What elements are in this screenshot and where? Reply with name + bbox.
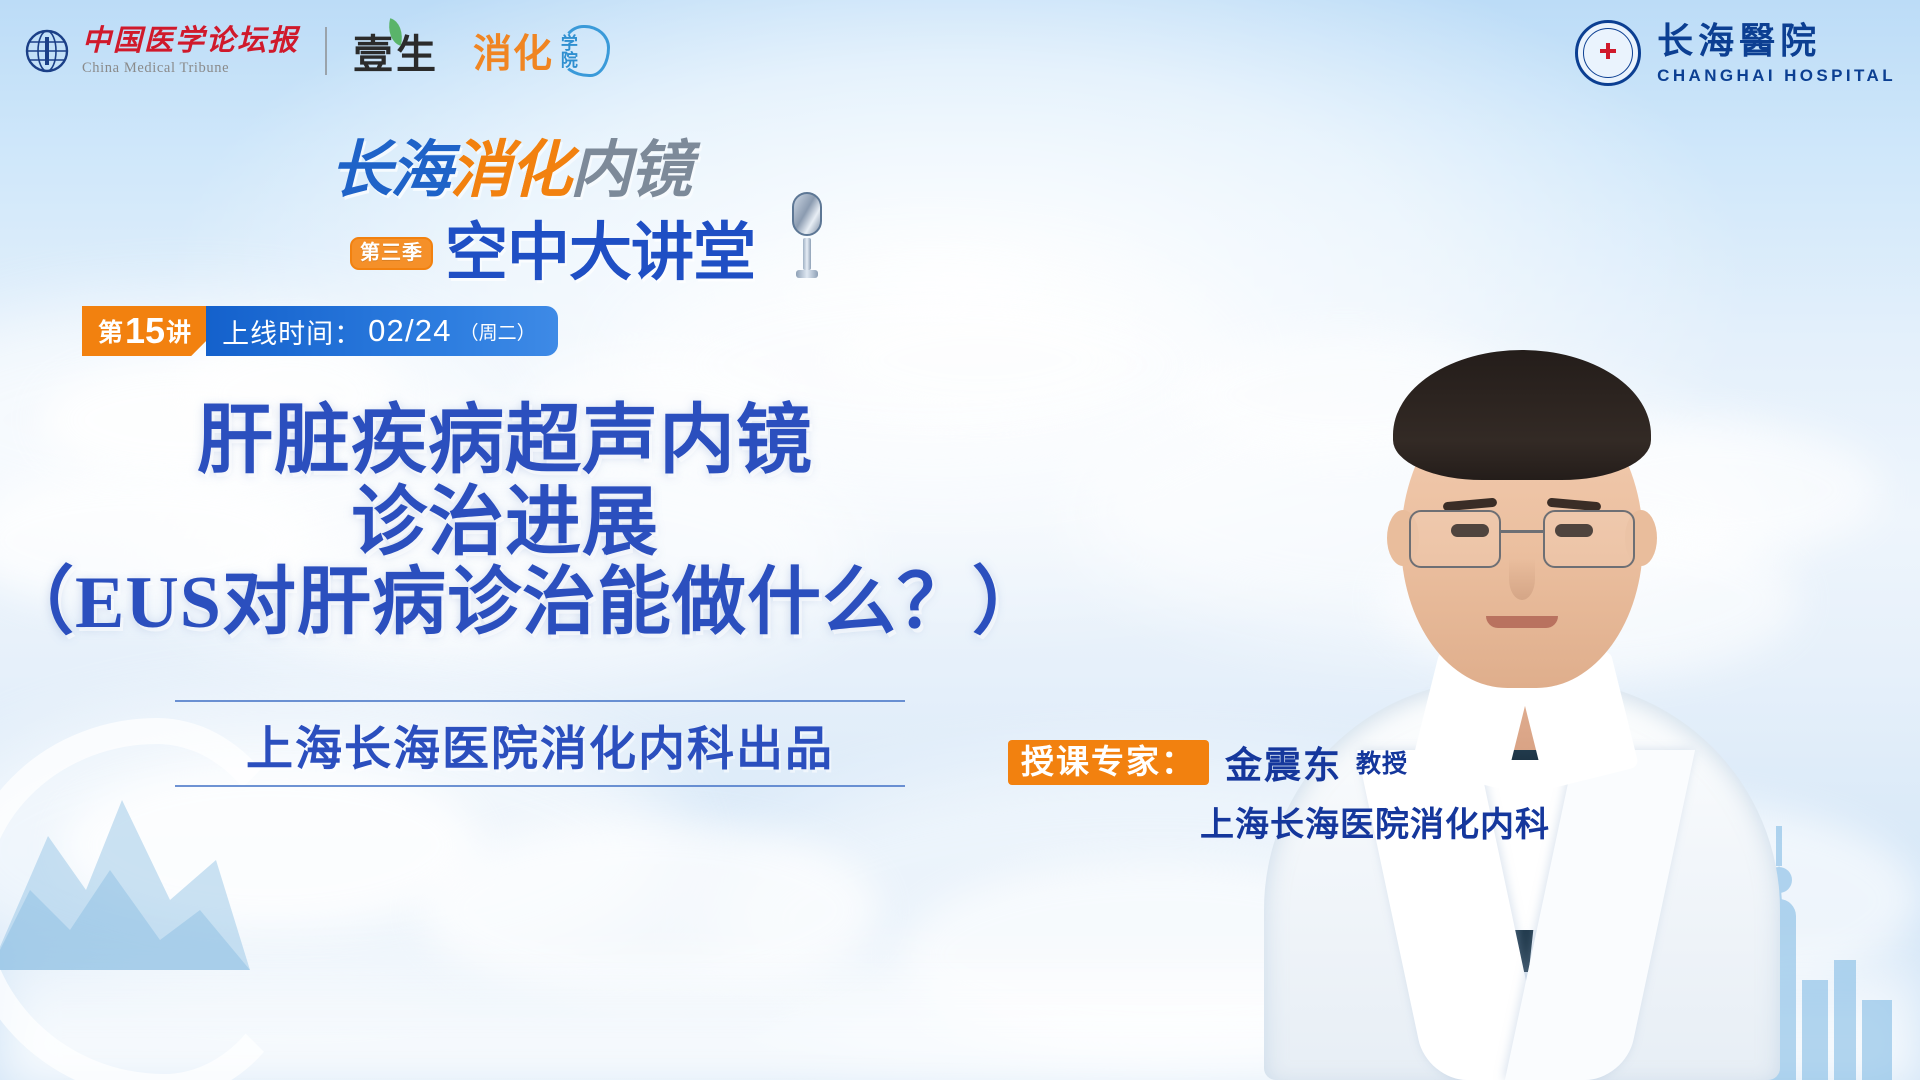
tribune-cn-name: 中国医学论坛报 [82,27,299,56]
speaker-info: 授课专家： 金震东 教授 上海长海医院消化内科 [1008,735,1550,846]
leaf-icon [384,18,406,45]
microphone-icon [792,192,822,292]
title-line-1: 肝脏疾病超声内镜 [0,400,1010,482]
episode-suffix: 讲 [166,313,192,349]
xiaohua-label: 消化 [473,23,553,79]
program-logo: 长海 消化 内镜 第三季 空中大讲堂 [330,140,800,300]
speaker-name: 金震东 [1225,735,1342,789]
china-medical-tribune-logo[interactable]: 中国医学论坛报 China Medical Tribune 壹生 消化 学院 [24,22,576,80]
episode-banner: 第 15 讲 上线时间： 02/24 （周二） [82,306,558,356]
producer-rule-bottom [175,785,905,787]
program-title-part2: 消化 [450,140,570,202]
program-title-part1: 长海 [330,140,450,202]
speaker-tag: 授课专家： [1008,740,1209,785]
changhai-hospital-logo[interactable]: 长海醫院 CHANGHAI HOSPITAL [1575,20,1896,86]
medical-cross-icon [1600,43,1616,59]
program-title-part3: 内镜 [570,140,690,202]
header: 中国医学论坛报 China Medical Tribune 壹生 消化 学院 长… [0,0,1920,110]
episode-number-badge: 第 15 讲 [82,306,206,356]
lecture-title: 肝脏疾病超声内镜 诊治进展 （EUS对肝病诊治能做什么？） [0,400,1010,644]
episode-number: 15 [125,313,165,349]
season-badge: 第三季 [350,237,433,270]
episode-time-bar: 上线时间： 02/24 （周二） [206,306,558,356]
tribune-en-name: China Medical Tribune [82,61,299,76]
speaker-rank: 教授 [1356,744,1408,780]
title-line-2: 诊治进展 [0,482,1010,564]
producer-text: 上海长海医院消化内科出品 [175,702,905,785]
airtime-weekday: （周二） [460,318,536,345]
airtime-label: 上线时间： [222,312,362,351]
yisheng-brand: 壹生 [353,22,439,80]
globe-icon [24,28,70,74]
episode-prefix: 第 [98,313,124,349]
producer-block: 上海长海医院消化内科出品 [175,700,905,787]
hair [1393,350,1651,480]
xiaohua-academy-brand: 消化 学院 [473,23,576,79]
stomach-icon [560,25,610,77]
changhai-seal-icon [1575,20,1641,86]
airtime-date: 02/24 [368,313,452,349]
hospital-en-name: CHANGHAI HOSPITAL [1657,67,1896,84]
title-line-3: （EUS对肝病诊治能做什么？） [0,564,1010,644]
speaker-affiliation: 上海长海医院消化内科 [1200,797,1550,846]
poster-canvas: 中国医学论坛报 China Medical Tribune 壹生 消化 学院 长… [0,0,1920,1080]
hospital-cn-name: 长海醫院 [1657,23,1896,59]
producer-rule-top [175,700,905,702]
program-subtitle: 空中大讲堂 [445,222,755,285]
eyeglasses-icon [1409,510,1635,572]
logo-divider [325,27,327,75]
speaker-portrait [1242,200,1802,1080]
